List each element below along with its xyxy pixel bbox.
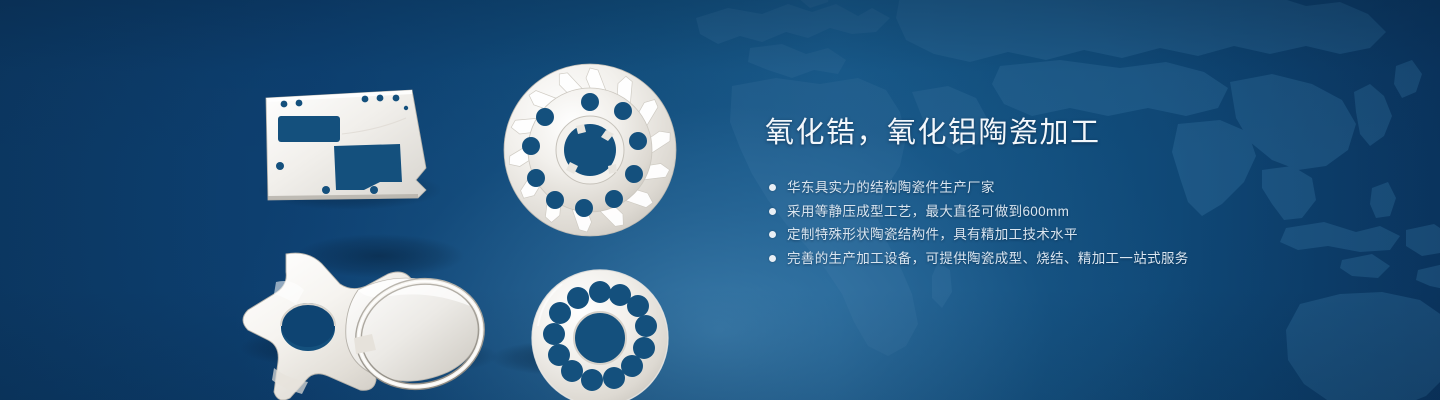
bullet-dot-icon <box>769 208 776 215</box>
feature-text: 完善的生产加工设备，可提供陶瓷成型、烧结、精加工一站式服务 <box>787 247 1189 270</box>
feature-text: 华东具实力的结构陶瓷件生产厂家 <box>787 176 995 199</box>
feature-text: 采用等静压成型工艺，最大直径可做到600mm <box>787 200 1069 223</box>
feature-list: 华东具实力的结构陶瓷件生产厂家 采用等静压成型工艺，最大直径可做到600mm 定… <box>769 176 1325 270</box>
bullet-dot-icon <box>769 184 776 191</box>
list-item: 定制特殊形状陶瓷结构件，具有精加工技术水平 <box>769 223 1325 246</box>
ceramic-plate-part <box>266 90 426 200</box>
bullet-dot-icon <box>769 255 776 262</box>
bullet-dot-icon <box>769 231 776 238</box>
feature-text: 定制特殊形状陶瓷结构件，具有精加工技术水平 <box>787 223 1078 246</box>
list-item: 完善的生产加工设备，可提供陶瓷成型、烧结、精加工一站式服务 <box>769 247 1325 270</box>
list-item: 华东具实力的结构陶瓷件生产厂家 <box>769 176 1325 199</box>
ceramic-perforated-disc-part <box>532 270 668 400</box>
ceramic-products-image <box>230 38 710 378</box>
hero-banner: 氧化锆，氧化铝陶瓷加工 华东具实力的结构陶瓷件生产厂家 采用等静压成型工艺，最大… <box>0 0 1440 400</box>
list-item: 采用等静压成型工艺，最大直径可做到600mm <box>769 200 1325 223</box>
banner-copy: 氧化锆，氧化铝陶瓷加工 华东具实力的结构陶瓷件生产厂家 采用等静压成型工艺，最大… <box>765 112 1325 270</box>
page-title: 氧化锆，氧化铝陶瓷加工 <box>765 112 1325 154</box>
